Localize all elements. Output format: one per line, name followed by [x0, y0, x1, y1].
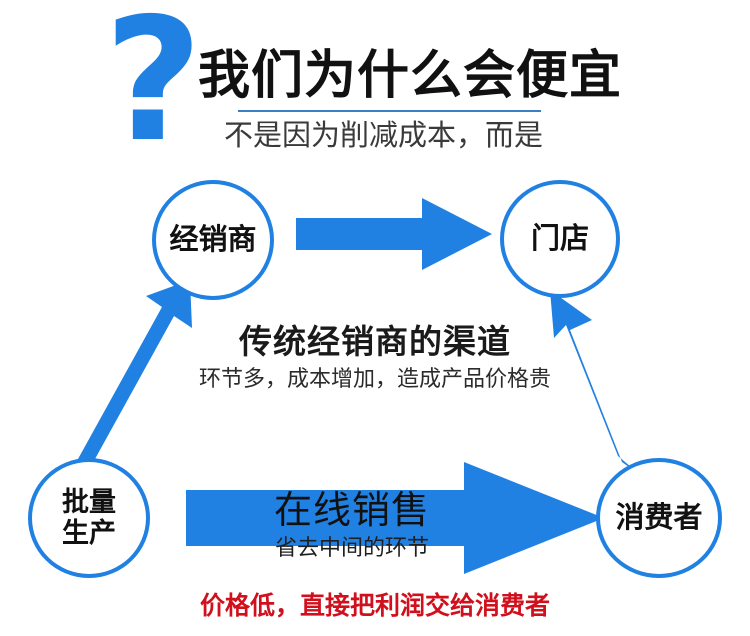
node-store[interactable]: 门店	[500, 180, 620, 298]
title-divider	[238, 110, 541, 112]
node-store-label: 门店	[531, 223, 589, 255]
node-consumer[interactable]: 消费者	[596, 458, 722, 578]
header-block: ? 我们为什么会便宜 不是因为削减成本，而是	[0, 0, 750, 175]
traditional-channel-subtitle: 环节多，成本增加，造成产品价格贵	[0, 364, 750, 394]
traditional-channel-caption: 传统经销商的渠道 环节多，成本增加，造成产品价格贵	[0, 322, 750, 394]
question-mark-icon: ?	[104, 0, 199, 166]
arrow-distributor-to-store	[296, 196, 496, 272]
online-channel-title: 在线销售	[172, 488, 532, 534]
page-title: 我们为什么会便宜	[198, 48, 622, 104]
node-production[interactable]: 批量 生产	[28, 458, 150, 578]
page-subtitle: 不是因为削减成本，而是	[224, 118, 543, 154]
infographic-page: ? 我们为什么会便宜 不是因为削减成本，而是 经销商 门店 批量 生产 消费者 …	[0, 0, 750, 636]
node-consumer-label: 消费者	[615, 502, 702, 534]
online-channel-subtitle: 省去中间的环节	[172, 533, 532, 563]
node-production-label: 批量 生产	[62, 487, 116, 549]
online-channel-caption: 在线销售 省去中间的环节	[172, 488, 532, 563]
traditional-channel-title: 传统经销商的渠道	[0, 322, 750, 362]
node-distributor-label: 经销商	[169, 224, 256, 256]
footer-note: 价格低，直接把利润交给消费者	[0, 590, 750, 622]
node-distributor[interactable]: 经销商	[152, 180, 274, 300]
